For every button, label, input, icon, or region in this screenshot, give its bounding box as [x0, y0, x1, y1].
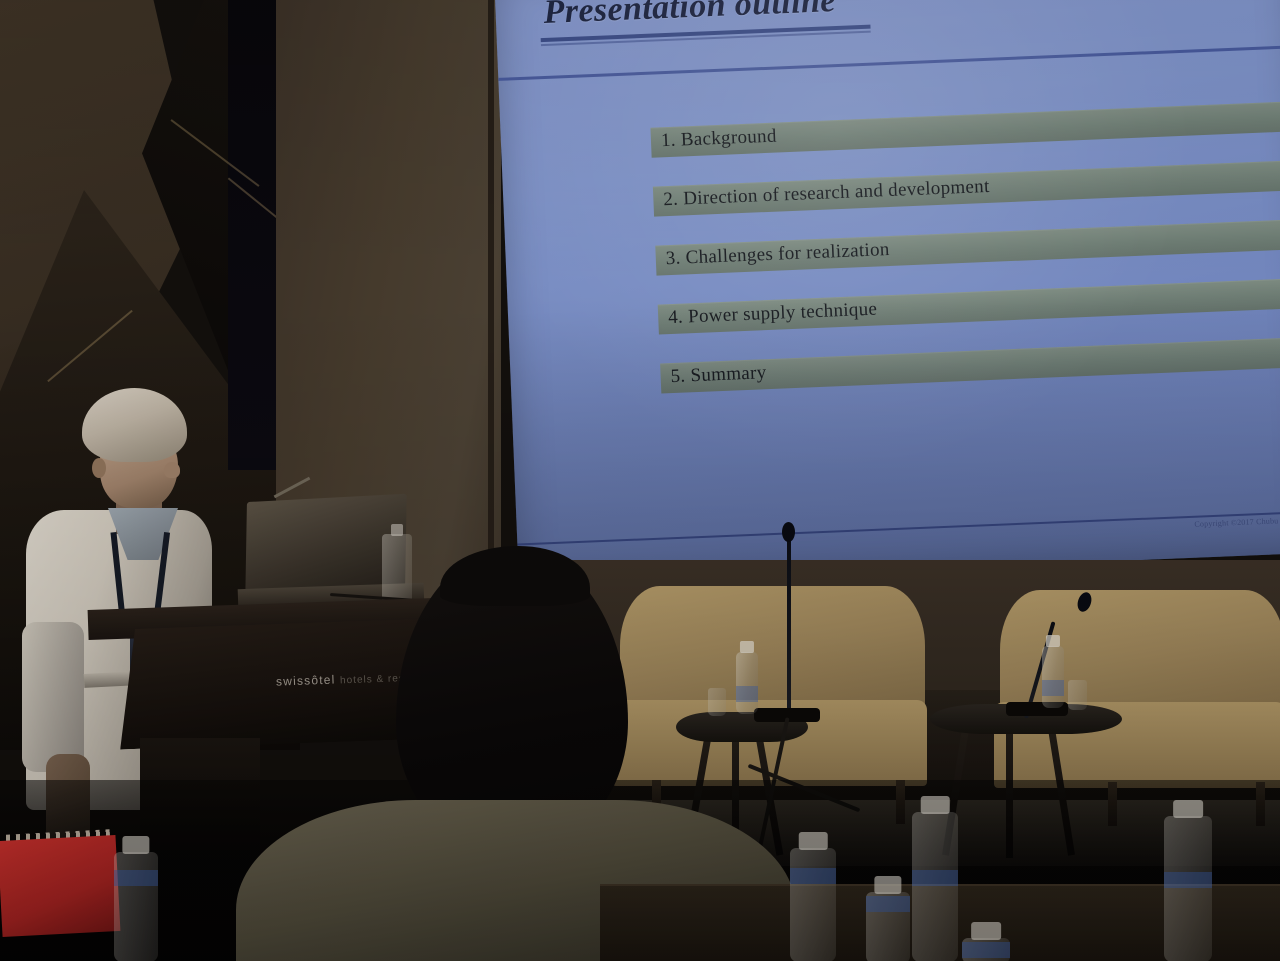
slide-outline-list: 1. Background 2. Direction of research a…: [650, 99, 1280, 422]
speaker-ear: [92, 458, 106, 478]
bottle-label: [790, 868, 836, 884]
drinking-glass-table-left: [708, 688, 726, 716]
drinking-glass-table-right: [1068, 680, 1087, 710]
outline-item-1: 1. Background: [650, 99, 1280, 158]
water-bottle-table-right: [1042, 646, 1064, 708]
bottle-label: [962, 942, 1010, 958]
water-bottle-foreground: [912, 812, 958, 961]
bottle-cap: [921, 796, 950, 814]
bottle-cap: [1046, 635, 1060, 647]
speaker-nose: [164, 462, 180, 478]
bottle-cap: [971, 922, 1001, 940]
bottle-cap: [874, 876, 901, 894]
bottle-cap: [799, 832, 828, 850]
bottle-label: [114, 870, 158, 886]
outline-item-3-label: 3. Challenges for realization: [665, 239, 890, 270]
outline-item-2-label: 2. Direction of research and development: [663, 176, 990, 211]
speaker-hair: [82, 388, 187, 462]
bottle-label: [912, 870, 958, 886]
water-bottle-table-left: [736, 652, 758, 714]
water-bottle-lectern: [382, 534, 412, 604]
microphone-left-capsule-icon: [782, 522, 795, 542]
water-bottle-foreground: [790, 848, 836, 961]
outline-item-3: 3. Challenges for realization: [655, 217, 1280, 276]
outline-item-5: 5. Summary: [660, 335, 1280, 394]
bottle-cap: [122, 836, 149, 854]
outline-item-1-label: 1. Background: [661, 126, 778, 153]
outline-item-5-label: 5. Summary: [670, 362, 767, 388]
conference-photo-scene: Presentation outline 1. Background 2. Di…: [0, 0, 1280, 961]
water-bottle-foreground: [962, 938, 1010, 961]
bottle-cap: [1173, 800, 1203, 818]
slide-header-rule: [498, 45, 1280, 81]
speaker-sleeve: [22, 622, 84, 772]
bottle-label: [866, 896, 910, 912]
pillar-edge-shadow: [488, 0, 494, 610]
microphone-left-stem: [787, 536, 791, 716]
water-bottle-foreground: [114, 852, 158, 961]
bottle-label: [1164, 872, 1212, 888]
water-bottle-foreground: [1164, 816, 1212, 961]
outline-item-4-label: 4. Power supply technique: [668, 299, 878, 330]
red-notebook: [0, 835, 120, 937]
projection-screen-slide: Presentation outline 1. Background 2. Di…: [494, 0, 1280, 585]
slide-footer-rule: [517, 511, 1280, 546]
outline-item-4: 4. Power supply technique: [658, 276, 1280, 335]
bottle-cap: [740, 641, 754, 653]
bottle-label: [736, 686, 758, 702]
outline-item-2: 2. Direction of research and development: [653, 158, 1280, 217]
bottle-label: [1042, 680, 1064, 696]
venue-logo-text: swissôtel: [276, 673, 336, 689]
water-bottle-foreground: [866, 892, 910, 961]
